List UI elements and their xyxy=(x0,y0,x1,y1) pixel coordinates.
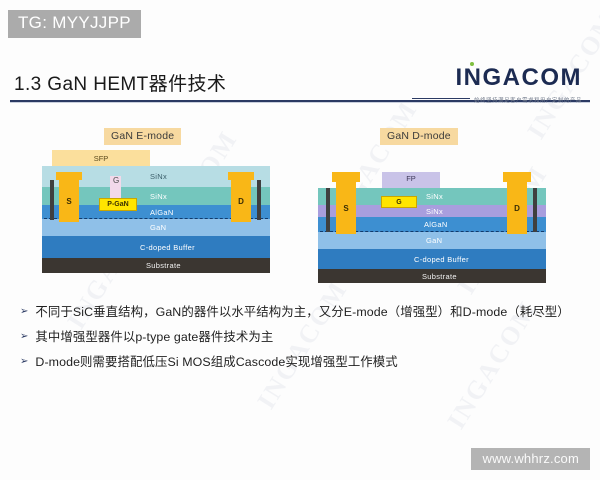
layer-label: SiNx xyxy=(426,192,443,201)
layer-gan-d-mode: GaN xyxy=(318,232,546,249)
bullet-arrow-icon: ➢ xyxy=(20,354,28,370)
bullet-text: 其中增强型器件以p-type gate器件技术为主 xyxy=(35,329,273,345)
slide-root: INGACOM INGACOM INGACOM INGACOM INGACOM … xyxy=(0,0,600,480)
source-electrode-e-mode: S xyxy=(59,180,79,222)
source-label: S xyxy=(343,204,348,213)
logo-wordmark: INGACOM xyxy=(456,66,583,90)
drain-label: D xyxy=(514,204,520,213)
brand-logo: INGACOM 始终坚持满足客户需求和用户定制的产品 xyxy=(412,66,582,104)
bullet-text: 不同于SiC垂直结构，GaN的器件以水平结构为主，又分E-mode（增强型）和D… xyxy=(35,304,569,320)
source-contact-bar-e-mode xyxy=(50,180,54,220)
logo-subtitle-row: 始终坚持满足客户需求和用户定制的产品 xyxy=(412,93,582,104)
logo-dot-icon xyxy=(470,62,474,66)
logo-subtitle: 始终坚持满足客户需求和用户定制的产品 xyxy=(474,96,582,104)
source-electrode-d-mode: S xyxy=(336,182,356,234)
field-plate-d-mode: FP xyxy=(382,172,440,188)
diagram-title-e-mode: GaN E-mode xyxy=(104,128,181,145)
layer-label: SiNx xyxy=(426,207,443,216)
source-field-plate-e-mode: SFP xyxy=(52,150,150,166)
page-title: 1.3 GaN HEMT器件技术 xyxy=(14,69,226,96)
layer-c-doped-buffer-e-mode: C-doped Buffer xyxy=(42,236,270,258)
layer-label: C-doped Buffer xyxy=(414,255,469,264)
layer-label: AlGaN xyxy=(424,220,448,229)
gate-marker-e-mode: G xyxy=(113,176,119,185)
bullet-arrow-icon: ➢ xyxy=(20,329,28,345)
bullet-text: D-mode则需要搭配低压Si MOS组成Cascode实现增强型工作模式 xyxy=(35,354,397,370)
diagram-gan-e-mode: GaN E-mode SFP SiNx SiNx AlGaN GaN C-dop… xyxy=(42,128,270,278)
list-item: ➢ D-mode则需要搭配低压Si MOS组成Cascode实现增强型工作模式 xyxy=(20,354,586,370)
drain-electrode-head-d-mode xyxy=(503,172,531,182)
source-contact-bar-d-mode xyxy=(326,188,330,232)
drain-contact-bar-e-mode xyxy=(257,180,261,220)
gate-label: G xyxy=(396,199,401,206)
layer-label: C-doped Buffer xyxy=(140,243,195,252)
list-item: ➢ 其中增强型器件以p-type gate器件技术为主 xyxy=(20,329,586,345)
tg-badge: TG: MYYJJPP xyxy=(8,10,141,38)
layer-substrate-d-mode: Substrate xyxy=(318,269,546,283)
source-electrode-head-d-mode xyxy=(332,172,360,182)
drain-contact-bar-d-mode xyxy=(533,188,537,232)
drain-electrode-d-mode: D xyxy=(507,182,527,234)
list-item: ➢ 不同于SiC垂直结构，GaN的器件以水平结构为主，又分E-mode（增强型）… xyxy=(20,304,586,320)
device-cross-section-d-mode: FP SiNx SiNx AlGaN GaN C-doped Buffer Su… xyxy=(318,172,546,278)
layer-label: SiNx xyxy=(150,172,167,181)
gate-electrode-d-mode: G xyxy=(381,196,417,208)
p-gan-label: P-GaN xyxy=(107,201,128,208)
layer-label: GaN xyxy=(150,223,166,232)
logo-text: INGACOM xyxy=(456,64,583,91)
drain-electrode-e-mode: D xyxy=(231,180,251,222)
layer-label: Substrate xyxy=(146,261,181,270)
footer-url-badge: www.whhrz.com xyxy=(471,448,590,470)
layer-c-doped-buffer-d-mode: C-doped Buffer xyxy=(318,249,546,269)
sfp-label: SFP xyxy=(94,154,109,163)
layer-label: AlGaN xyxy=(150,208,174,217)
drain-electrode-head-e-mode xyxy=(228,172,254,180)
layer-label: SiNx xyxy=(150,192,167,201)
layer-substrate-e-mode: Substrate xyxy=(42,258,270,273)
drain-label: D xyxy=(238,197,244,206)
diagram-gan-d-mode: GaN D-mode FP SiNx SiNx AlGaN GaN C-dope… xyxy=(318,128,546,278)
logo-rule xyxy=(412,98,470,99)
source-label: S xyxy=(66,197,71,206)
source-electrode-head-e-mode xyxy=(56,172,82,180)
layer-label: GaN xyxy=(426,236,442,245)
device-cross-section-e-mode: SFP SiNx SiNx AlGaN GaN C-doped Buffer S… xyxy=(42,150,270,278)
fp-label: FP xyxy=(406,172,416,183)
bullet-list: ➢ 不同于SiC垂直结构，GaN的器件以水平结构为主，又分E-mode（增强型）… xyxy=(20,304,586,379)
bullet-arrow-icon: ➢ xyxy=(20,304,28,320)
diagram-title-d-mode: GaN D-mode xyxy=(380,128,458,145)
p-gan-gate-e-mode: P-GaN xyxy=(99,198,137,211)
layer-label: Substrate xyxy=(422,272,457,281)
